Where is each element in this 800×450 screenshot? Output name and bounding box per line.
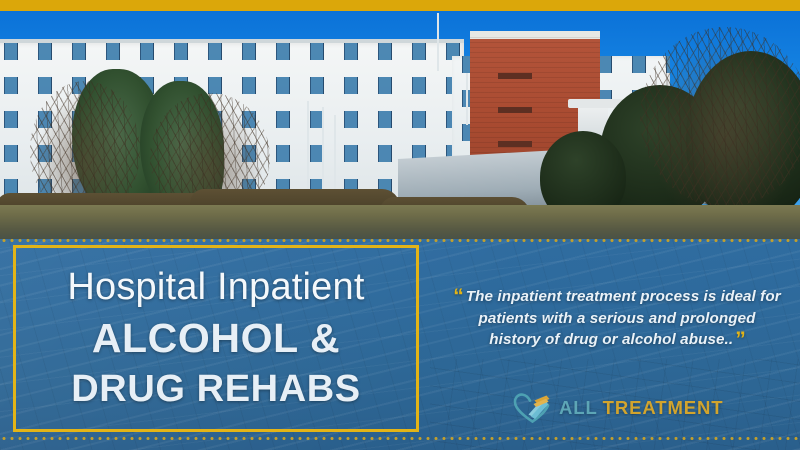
logo-word-treatment: TREATMENT (603, 397, 724, 418)
foreground-ground (0, 205, 800, 239)
antenna-mast (466, 73, 468, 125)
heart-book-icon (512, 392, 552, 424)
headline-line-1: Hospital Inpatient (67, 268, 364, 307)
dotted-divider-top (0, 238, 800, 243)
testimonial-quote: “The inpatient treatment process is idea… (452, 286, 782, 351)
bare-tree (640, 27, 800, 207)
dotted-divider-bottom (0, 436, 800, 441)
top-gold-bar (0, 0, 800, 11)
quote-text: The inpatient treatment process is ideal… (466, 288, 781, 348)
tower-window (498, 107, 532, 113)
quote-open-icon: “ (453, 285, 463, 308)
antenna-mast (437, 13, 439, 71)
tower-window (498, 141, 532, 147)
hospital-exterior-photo (0, 11, 800, 239)
headline-line-2: ALCOHOL & (92, 316, 340, 362)
logo-wordmark: ALLTREATMENT (559, 397, 723, 419)
tower-window (498, 73, 532, 79)
headline-block: Hospital Inpatient ALCOHOL & DRUG REHABS (13, 245, 419, 432)
headline-line-3: DRUG REHABS (71, 368, 361, 411)
quote-close-icon: ” (735, 328, 745, 351)
alltreatment-logo[interactable]: ALLTREATMENT (512, 392, 723, 424)
promo-banner: Hospital Inpatient ALCOHOL & DRUG REHABS… (0, 0, 800, 450)
logo-word-all: ALL (559, 397, 598, 418)
